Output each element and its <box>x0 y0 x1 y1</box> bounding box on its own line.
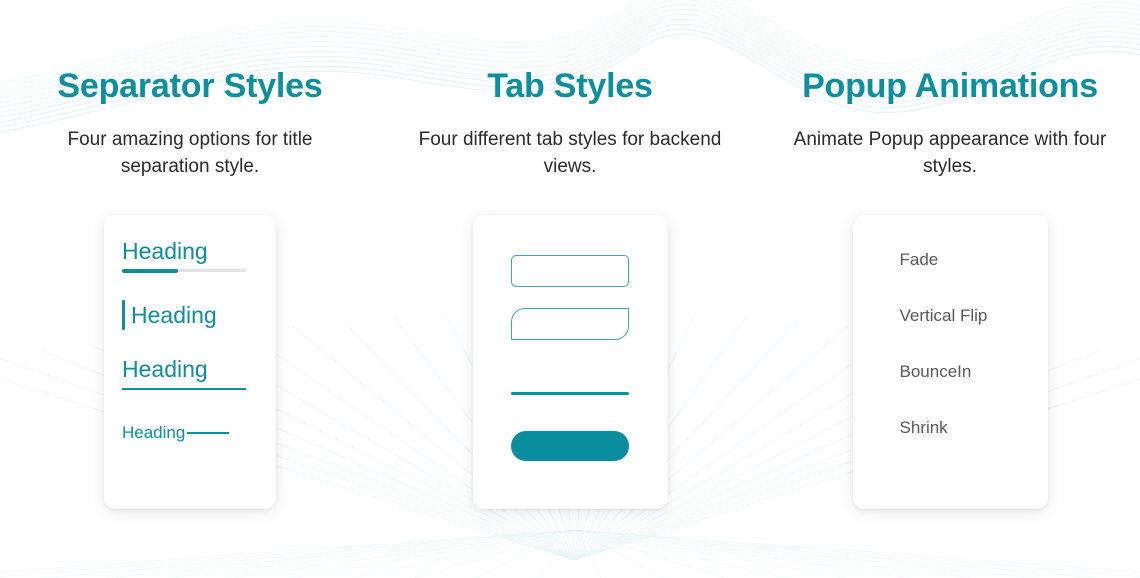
tab-style-filled-pill[interactable] <box>511 431 629 461</box>
tab-style-outlined-diagonal-rounded[interactable] <box>511 308 629 340</box>
separator-rule-full <box>122 388 246 390</box>
separator-heading-label: Heading <box>122 424 185 442</box>
separator-rule-fill <box>122 269 178 273</box>
column-popup-animations: Popup Animations Animate Popup appearanc… <box>760 0 1140 509</box>
separator-styles-card: Heading Heading Heading Heading <box>104 215 276 509</box>
separator-style-trailing-line[interactable]: Heading <box>122 424 258 442</box>
page-content: Separator Styles Four amazing options fo… <box>0 0 1140 578</box>
popup-animations-card: Fade Vertical Flip BounceIn Shrink <box>853 215 1048 509</box>
separator-heading-label: Heading <box>122 357 258 381</box>
column-tab-styles: Tab Styles Four different tab styles for… <box>380 0 760 509</box>
column-separator-styles: Separator Styles Four amazing options fo… <box>0 0 380 509</box>
popup-animation-item-vertical-flip[interactable]: Vertical Flip <box>853 307 988 324</box>
popup-animation-item-fade[interactable]: Fade <box>853 251 939 268</box>
page-title-tab-styles: Tab Styles <box>487 68 653 105</box>
separator-rule-track <box>122 269 246 272</box>
tab-style-underline-bar[interactable] <box>511 392 629 395</box>
popup-animation-item-bouncein[interactable]: BounceIn <box>853 363 972 380</box>
separator-heading-label: Heading <box>131 303 217 327</box>
separator-trailing-line <box>187 432 229 434</box>
separator-style-left-vertical-bar[interactable]: Heading <box>122 300 258 330</box>
page-title-popup-animations: Popup Animations <box>802 68 1098 105</box>
subtitle-tab-styles: Four different tab styles for backend vi… <box>405 127 735 181</box>
separator-heading-label: Heading <box>122 239 258 263</box>
subtitle-popup-animations: Animate Popup appearance with four style… <box>785 127 1115 181</box>
separator-vertical-bar <box>122 300 125 330</box>
popup-animation-item-shrink[interactable]: Shrink <box>853 419 948 436</box>
subtitle-separator-styles: Four amazing options for title separatio… <box>25 127 355 181</box>
tab-style-outlined-rounded-rect[interactable] <box>511 255 629 287</box>
separator-style-underline-full[interactable]: Heading <box>122 357 258 389</box>
tab-styles-card <box>473 215 668 509</box>
separator-style-underline-partial[interactable]: Heading <box>122 239 258 272</box>
page-title-separator-styles: Separator Styles <box>57 68 322 105</box>
